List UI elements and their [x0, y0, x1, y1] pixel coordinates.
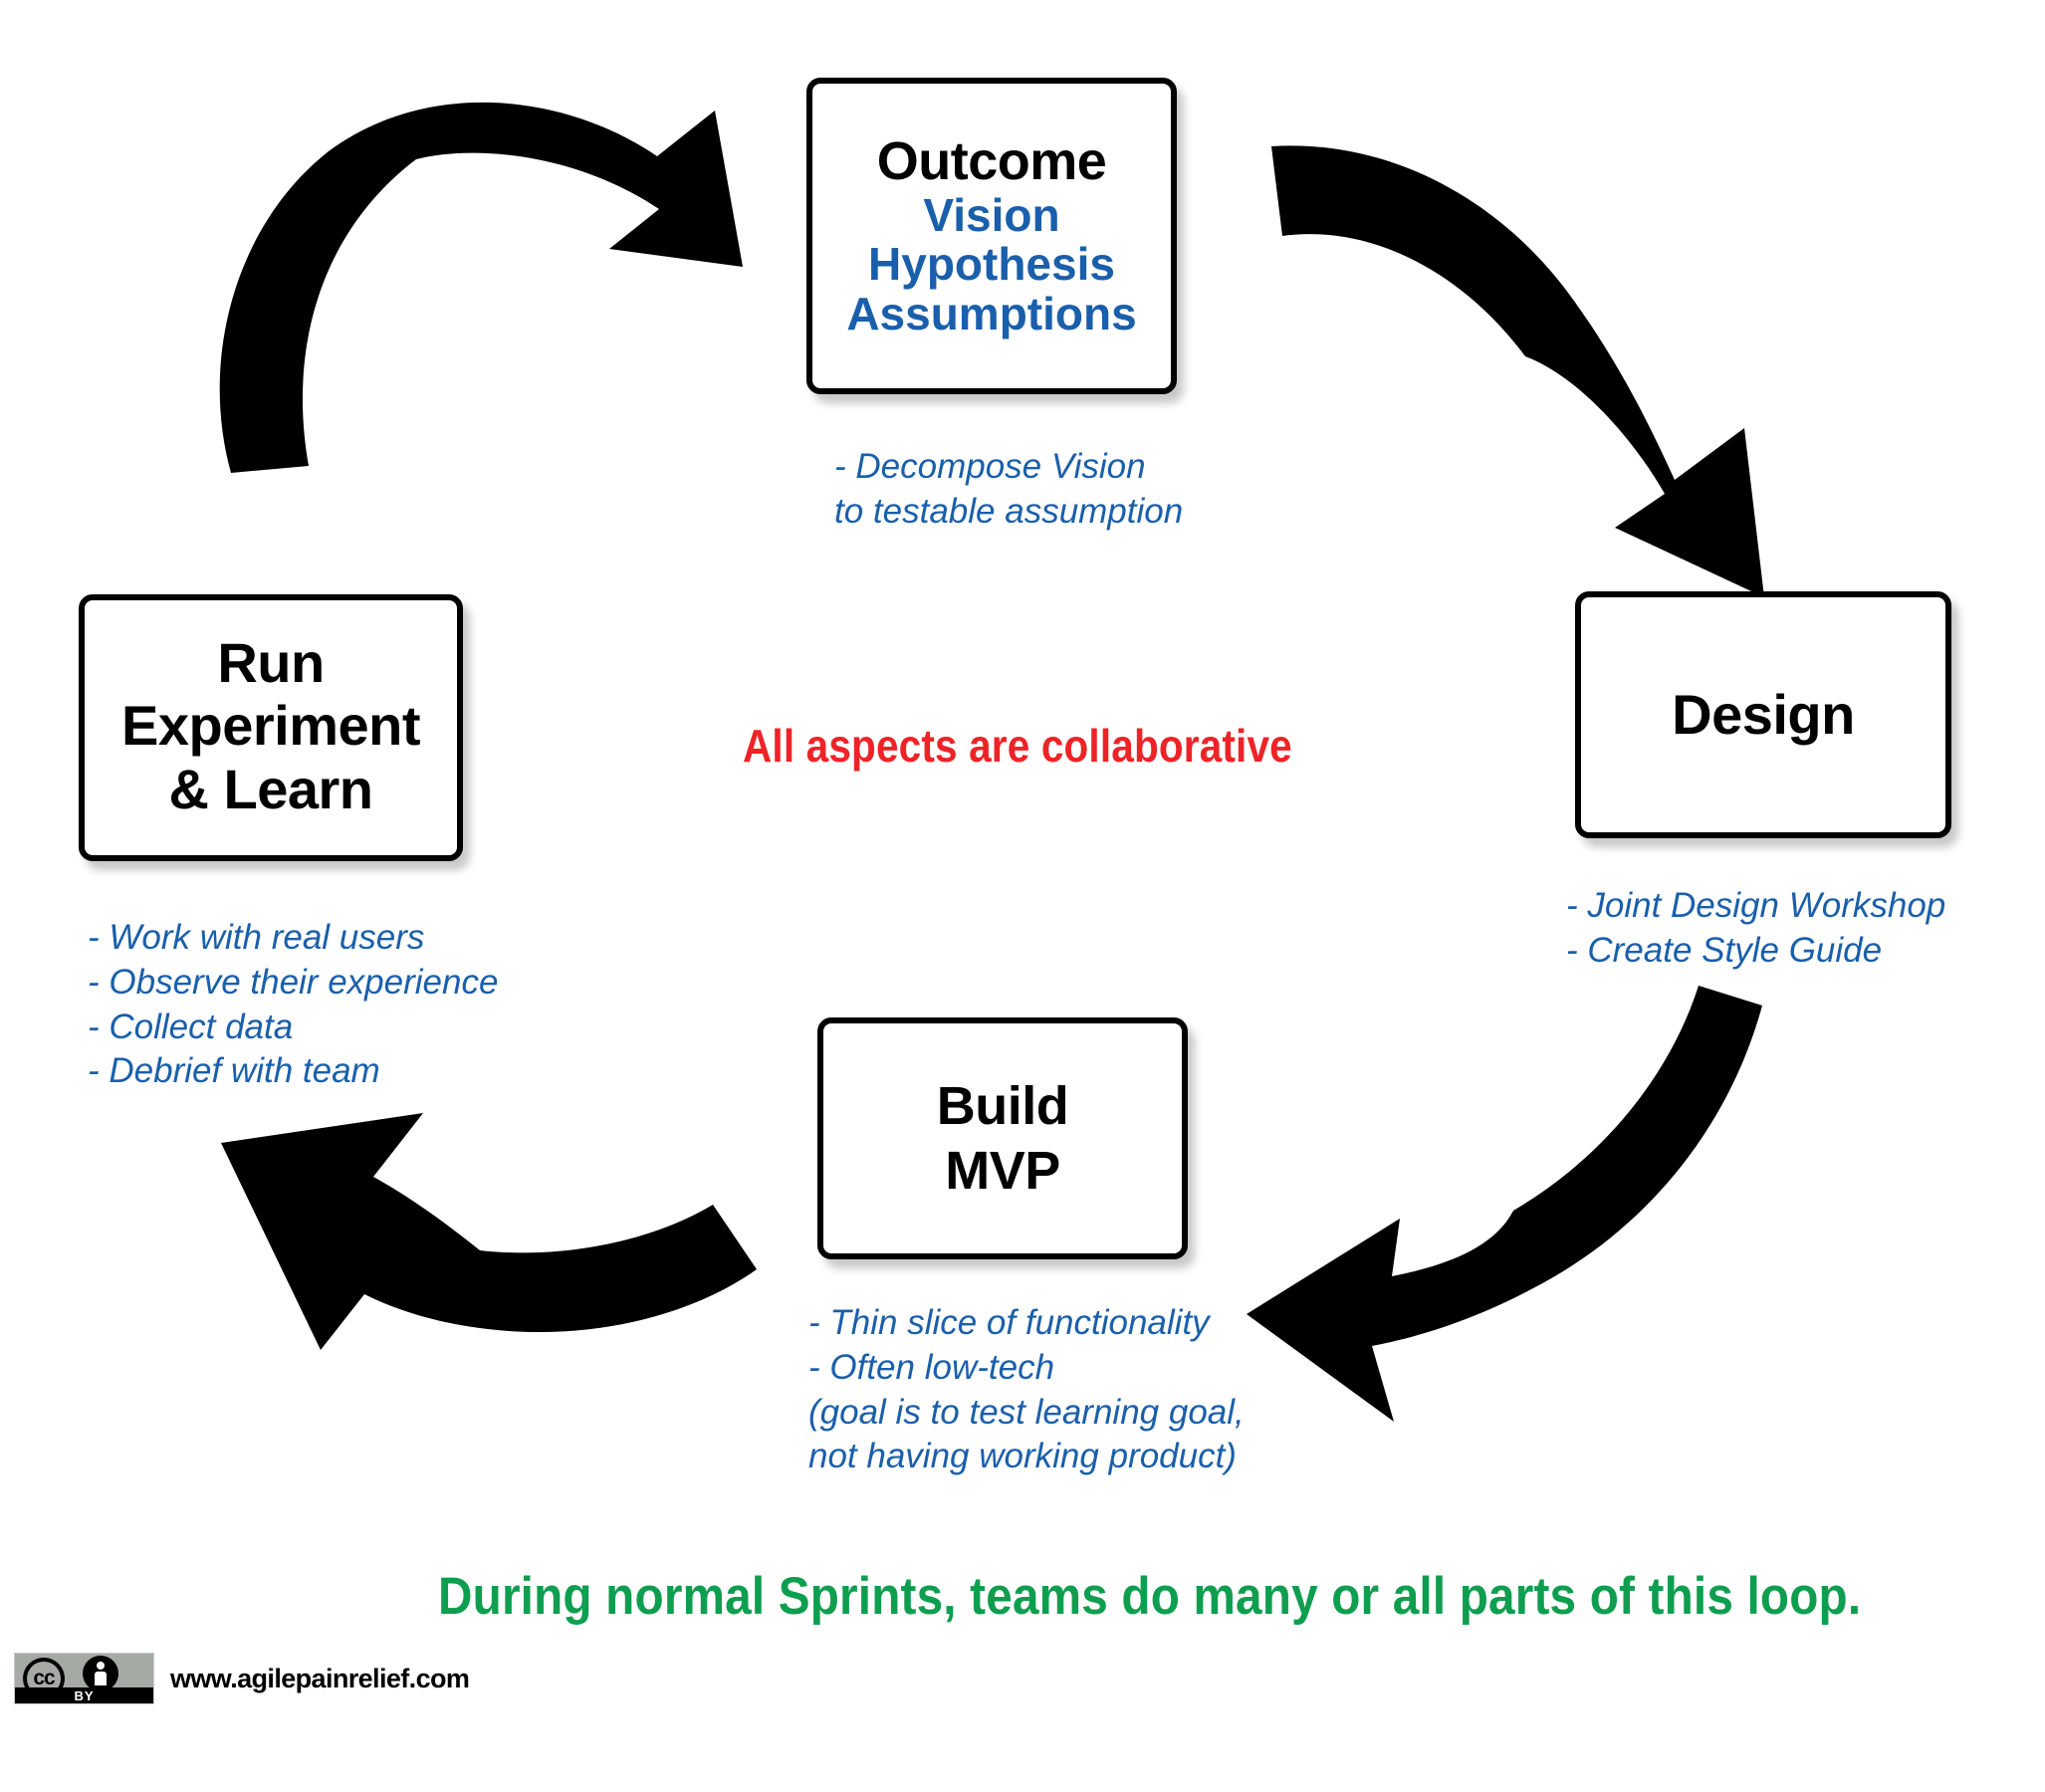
center-slogan: All aspects are collaborative	[743, 719, 1292, 773]
arrow-outcome-to-design-icon	[1271, 145, 1764, 597]
node-run-title-line2: Experiment	[121, 694, 420, 757]
node-outcome-sub-vision: Vision	[923, 191, 1059, 241]
node-build-mvp[interactable]: Build MVP	[817, 1017, 1188, 1259]
caption-build-mvp: - Thin slice of functionality - Often lo…	[808, 1301, 1245, 1479]
arrow-design-to-build-icon	[1247, 986, 1762, 1422]
person-attribution-icon	[83, 1656, 118, 1691]
person-body-shape	[95, 1672, 107, 1685]
node-outcome-title: Outcome	[877, 132, 1107, 190]
node-outcome-sub-assumptions: Assumptions	[846, 290, 1136, 339]
badge-by-label: BY	[15, 1688, 153, 1704]
site-url-label: www.agilepainrelief.com	[170, 1664, 469, 1694]
person-head-shape	[97, 1662, 105, 1670]
node-build-title-line1: Build	[937, 1074, 1068, 1139]
node-design[interactable]: Design	[1575, 591, 1951, 838]
node-design-title: Design	[1672, 685, 1855, 745]
caption-outcome: - Decompose Vision to testable assumptio…	[834, 445, 1183, 535]
creative-commons-by-badge-icon: cc BY	[14, 1653, 154, 1704]
node-run-title-line1: Run	[217, 631, 324, 694]
arrow-run-to-outcome-icon	[220, 103, 743, 473]
caption-design: - Joint Design Workshop - Create Style G…	[1566, 884, 1945, 974]
arrow-build-to-run-icon	[221, 1113, 757, 1350]
node-outcome[interactable]: Outcome Vision Hypothesis Assumptions	[806, 78, 1177, 394]
node-run-experiment-and-learn[interactable]: Run Experiment & Learn	[79, 594, 463, 861]
diagram-canvas: Outcome Vision Hypothesis Assumptions Ru…	[0, 0, 2045, 1792]
node-run-title-line3: & Learn	[169, 758, 373, 820]
node-build-title-line2: MVP	[945, 1139, 1060, 1204]
node-outcome-sub-hypothesis: Hypothesis	[868, 240, 1115, 290]
caption-run-experiment: - Work with real users - Observe their e…	[88, 916, 498, 1094]
bottom-slogan: During normal Sprints, teams do many or …	[438, 1566, 1861, 1627]
footer: cc BY www.agilepainrelief.com	[14, 1653, 469, 1704]
